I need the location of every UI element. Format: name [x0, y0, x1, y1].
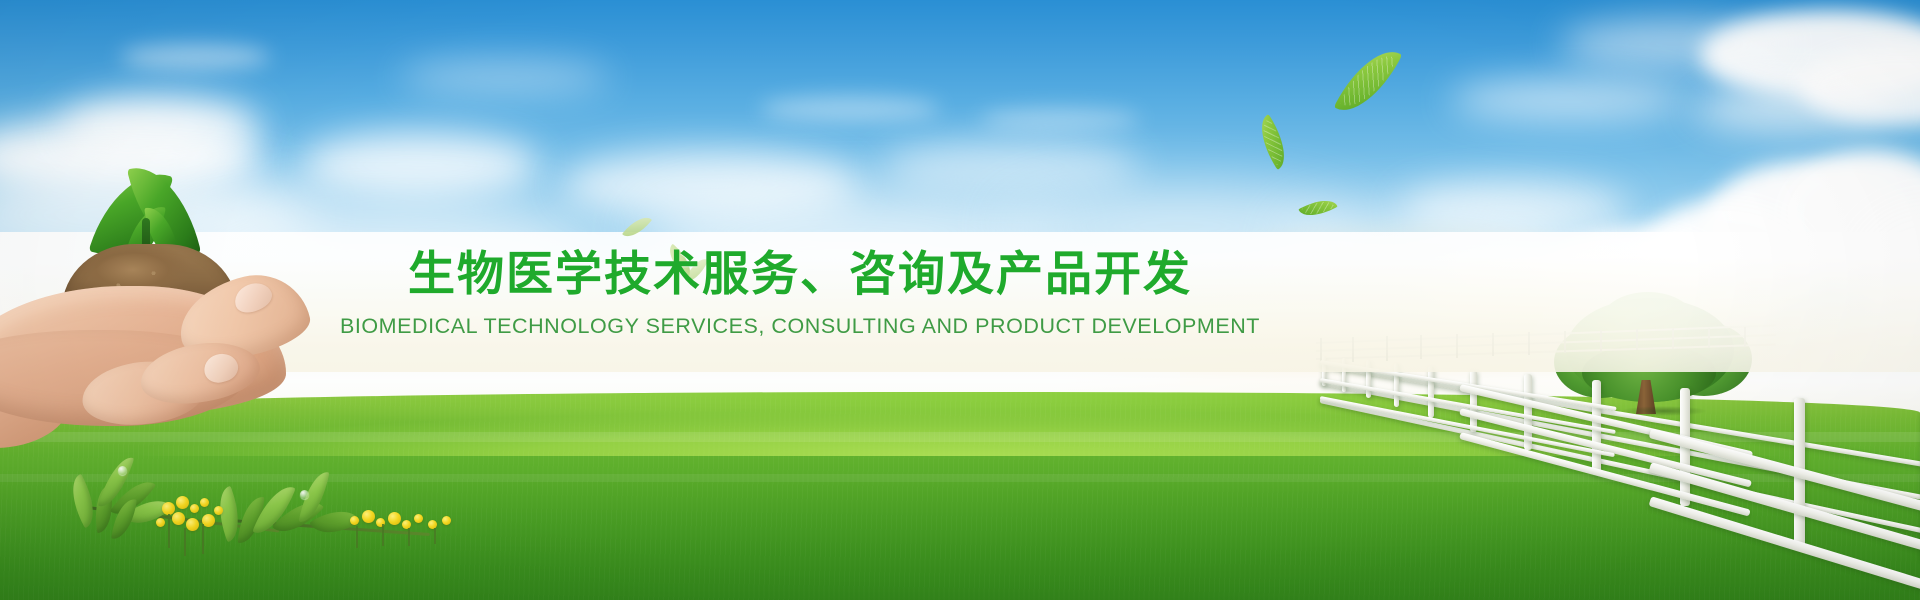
hand-with-sprout	[0, 178, 350, 438]
hero-banner: 生物医学技术服务、咨询及产品开发 BIOMEDICAL TECHNOLOGY S…	[0, 0, 1920, 600]
flowering-plants	[50, 440, 470, 590]
